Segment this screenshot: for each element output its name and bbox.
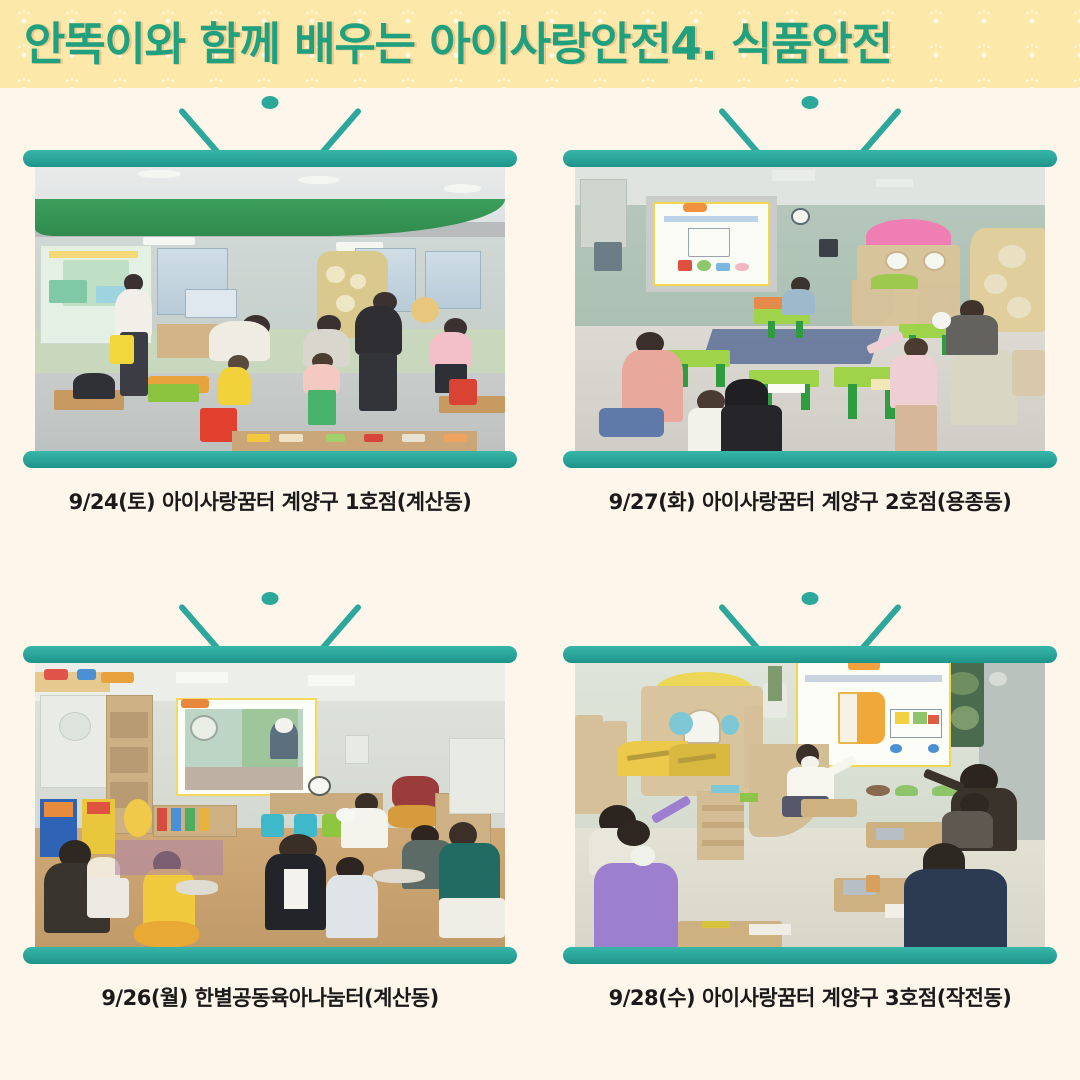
frame-bar-top <box>563 150 1057 167</box>
photo-block <box>563 150 1057 468</box>
photo-caption-1: 9/24(토) 아이사랑꿈터 계양구 1호점(계산동) <box>0 486 540 516</box>
frame-bar-bottom <box>563 451 1057 468</box>
header-banner: 안똑이와 함께 배우는 아이사랑안전4. 식품안전 <box>0 0 1080 88</box>
photo-block <box>563 646 1057 964</box>
photo-frame-1: 9/24(토) 아이사랑꿈터 계양구 1호점(계산동) <box>0 88 540 584</box>
photo-image-4 <box>575 660 1045 950</box>
scene-classroom-4 <box>575 660 1045 950</box>
hanger-dot-icon <box>262 592 279 605</box>
scene-classroom-3 <box>35 660 505 950</box>
photo-frame-4: 9/28(수) 아이사랑꿈터 계양구 3호점(작전동) <box>540 584 1080 1080</box>
photo-block <box>23 646 517 964</box>
page-title: 안똑이와 함께 배우는 아이사랑안전4. 식품안전 <box>24 22 892 67</box>
frame-bar-top <box>23 646 517 663</box>
photo-gallery: 9/24(토) 아이사랑꿈터 계양구 1호점(계산동) <box>0 88 1080 1080</box>
photo-image-3 <box>35 660 505 950</box>
frame-bar-bottom <box>23 451 517 468</box>
photo-frame-2: 9/27(화) 아이사랑꿈터 계양구 2호점(용종동) <box>540 88 1080 584</box>
hanger-dot-icon <box>802 592 819 605</box>
hanger-dot-icon <box>802 96 819 109</box>
frame-bar-top <box>23 150 517 167</box>
photo-caption-2: 9/27(화) 아이사랑꿈터 계양구 2호점(용종동) <box>540 486 1080 516</box>
frame-bar-top <box>563 646 1057 663</box>
scene-classroom-2 <box>575 164 1045 454</box>
frame-bar-bottom <box>23 947 517 964</box>
scene-classroom-1 <box>35 164 505 454</box>
photo-block <box>23 150 517 468</box>
hanger-dot-icon <box>262 96 279 109</box>
photo-image-2 <box>575 164 1045 454</box>
photo-caption-3: 9/26(월) 한별공동육아나눔터(계산동) <box>0 982 540 1012</box>
photo-caption-4: 9/28(수) 아이사랑꿈터 계양구 3호점(작전동) <box>540 982 1080 1012</box>
frame-bar-bottom <box>563 947 1057 964</box>
photo-image-1 <box>35 164 505 454</box>
photo-frame-3: 9/26(월) 한별공동육아나눔터(계산동) <box>0 584 540 1080</box>
